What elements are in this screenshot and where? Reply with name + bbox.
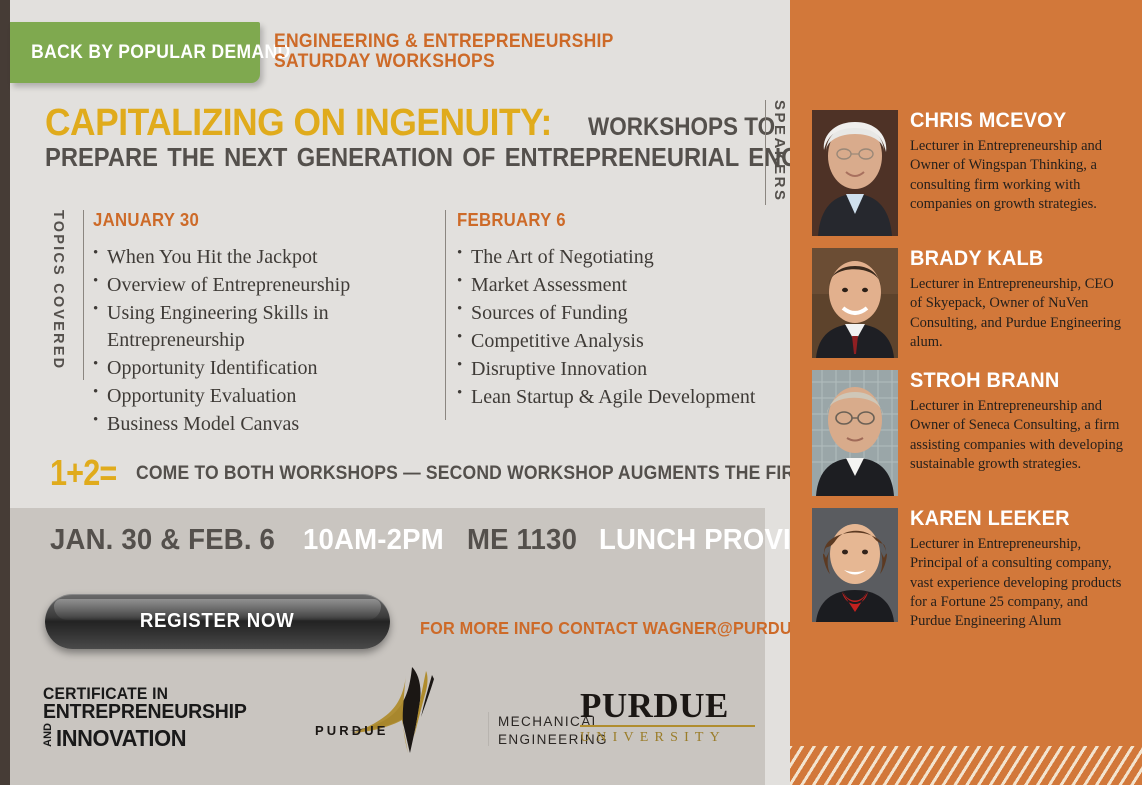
speaker-name: BRADY KALB	[910, 248, 1113, 269]
avatar	[812, 508, 898, 622]
speaker-bio: Lecturer in Entrepreneurship, CEO of Sky…	[910, 275, 1124, 352]
list-item: Market Assessment	[457, 272, 775, 299]
speaker-card-chris-mcevoy: CHRIS MCEVOY Lecturer in Entrepreneurshi…	[812, 110, 1124, 236]
speakers-list: CHRIS MCEVOY Lecturer in Entrepreneurshi…	[812, 110, 1124, 643]
list-item: Competitive Analysis	[457, 328, 775, 355]
back-by-popular-demand-badge: BACK BY POPULAR DEMAND	[10, 22, 260, 83]
speaker-body: KAREN LEEKER Lecturer in Entrepreneurshi…	[910, 508, 1124, 631]
list-item: When You Hit the Jackpot	[93, 244, 423, 271]
list-item: Business Model Canvas	[93, 411, 423, 438]
speaker-name: CHRIS MCEVOY	[910, 110, 1113, 131]
speaker-bio: Lecturer in Entrepreneurship and Owner o…	[910, 137, 1124, 214]
headline-line-2: PREPARE THE NEXT GENERATION OF ENTREPREN…	[45, 142, 724, 175]
avatar	[812, 248, 898, 358]
register-now-button[interactable]: REGISTER NOW	[45, 594, 390, 649]
avatar	[812, 110, 898, 236]
portrait-image	[812, 248, 898, 358]
list-item: Using Engineering Skills in Entrepreneur…	[93, 300, 423, 354]
purdue-gold-rule	[580, 725, 755, 727]
purdue-wordmark: PURDUE	[580, 688, 755, 723]
event-time: 10AM-2PM	[303, 524, 444, 557]
topic-text: Market Assessment	[471, 274, 627, 296]
contact-info[interactable]: FOR MORE INFO CONTACT WAGNER@PURDUE.EDU	[420, 618, 842, 639]
left-content-panel: BACK BY POPULAR DEMAND ENGINEERING & ENT…	[10, 0, 765, 785]
topic-list-february: The Art of Negotiating Market Assessment…	[457, 244, 775, 411]
topic-text: Business Model Canvas	[107, 413, 299, 435]
speaker-body: STROH BRANN Lecturer in Entrepreneurship…	[910, 370, 1124, 496]
cei-and-text: AND	[43, 723, 54, 747]
eyebrow-heading: ENGINEERING & ENTREPRENEURSHIP SATURDAY …	[274, 31, 651, 72]
cei-line-2: ENTREPRENEURSHIP	[43, 703, 219, 721]
speaker-name: STROH BRANN	[910, 370, 1113, 391]
speaker-bio: Lecturer in Entrepreneurship, Principal …	[910, 535, 1124, 631]
speaker-body: CHRIS MCEVOY Lecturer in Entrepreneurshi…	[910, 110, 1124, 236]
speaker-name: KAREN LEEKER	[910, 508, 1113, 529]
topic-text: Competitive Analysis	[471, 330, 644, 352]
cei-line-3-row: AND INNOVATION	[43, 723, 228, 747]
eyebrow-line-2: SATURDAY WORKSHOPS	[274, 51, 614, 71]
both-workshops-note: 1+2= COME TO BOTH WORKSHOPS — SECOND WOR…	[50, 452, 893, 494]
portrait-image	[812, 370, 898, 496]
topic-text: Sources of Funding	[471, 302, 628, 324]
event-details-bar: JAN. 30 & FEB. 6 10AM-2PM ME 1130 LUNCH …	[50, 524, 863, 557]
me-logo-purdue-word: PURDUE	[315, 723, 389, 738]
topic-text: Opportunity Evaluation	[107, 385, 296, 407]
event-room: ME 1130	[467, 524, 577, 557]
topics-label-text: TOPICS COVERED	[50, 210, 66, 370]
diagonal-stripe-decoration	[790, 746, 1142, 785]
equation-text: COME TO BOTH WORKSHOPS — SECOND WORKSHOP…	[136, 462, 817, 485]
speaker-body: BRADY KALB Lecturer in Entrepreneurship,…	[910, 248, 1124, 358]
topic-text: The Art of Negotiating	[471, 246, 654, 268]
speaker-card-karen-leeker: KAREN LEEKER Lecturer in Entrepreneurshi…	[812, 508, 1124, 631]
topics-column-january: JANUARY 30 When You Hit the Jackpot Over…	[93, 210, 423, 439]
purdue-university-subtext: UNIVERSITY	[580, 730, 755, 746]
topic-text: Lean Startup & Agile Development	[471, 386, 755, 408]
list-item: Lean Startup & Agile Development	[457, 384, 775, 411]
column-date-february: FEBRUARY 6	[457, 210, 753, 231]
purdue-motion-swoosh-icon	[348, 665, 468, 755]
badge-label: BACK BY POPULAR DEMAND	[10, 42, 290, 64]
list-item: Sources of Funding	[457, 300, 775, 327]
avatar	[812, 370, 898, 496]
topics-divider-rule	[83, 210, 84, 380]
event-dates: JAN. 30 & FEB. 6	[50, 524, 275, 557]
certificate-entrepreneurship-innovation-logo: CERTIFICATE IN ENTREPRENEURSHIP AND INNO…	[43, 687, 228, 747]
headline-trailing: WORKSHOPS TO	[588, 115, 775, 140]
list-item: The Art of Negotiating	[457, 244, 775, 271]
topic-text: Opportunity Identification	[107, 357, 318, 379]
purdue-university-logo: PURDUE UNIVERSITY	[580, 688, 755, 746]
left-spine-decoration	[0, 0, 10, 785]
page-title: CAPITALIZING ON INGENUITY:WORKSHOPS TO P…	[45, 104, 775, 175]
topic-text: When You Hit the Jackpot	[107, 246, 318, 268]
portrait-image	[812, 110, 898, 236]
topics-covered-label: TOPICS COVERED	[48, 210, 84, 380]
topic-text: Using Engineering Skills in Entrepreneur…	[107, 302, 329, 351]
purdue-mechanical-engineering-logo: PURDUE MECHANICAL ENGINEERING	[310, 665, 500, 760]
cei-line-3: INNOVATION	[56, 728, 186, 749]
eyebrow-line-1: ENGINEERING & ENTREPRENEURSHIP	[274, 31, 614, 51]
register-button-label: REGISTER NOW	[140, 610, 295, 633]
speakers-panel: CHRIS MCEVOY Lecturer in Entrepreneurshi…	[790, 0, 1142, 785]
topic-text: Overview of Entrepreneurship	[107, 274, 350, 296]
equation-symbol: 1+2=	[50, 452, 116, 494]
speakers-label-text: SPEAKERS	[771, 100, 788, 203]
headline-line-1: CAPITALIZING ON INGENUITY:WORKSHOPS TO	[45, 104, 775, 142]
topic-text: Disruptive Innovation	[471, 358, 647, 380]
topic-list-january: When You Hit the Jackpot Overview of Ent…	[93, 244, 423, 438]
topics-column-february: FEBRUARY 6 The Art of Negotiating Market…	[445, 210, 775, 412]
poster-root: BACK BY POPULAR DEMAND ENGINEERING & ENT…	[0, 0, 1142, 785]
logo-row: CERTIFICATE IN ENTREPRENEURSHIP AND INNO…	[10, 660, 765, 770]
headline-emphasis: CAPITALIZING ON INGENUITY:	[45, 104, 552, 142]
list-item: Overview of Entrepreneurship	[93, 272, 423, 299]
speakers-divider-rule	[765, 100, 766, 205]
portrait-image	[812, 508, 898, 622]
list-item: Opportunity Identification	[93, 355, 423, 382]
list-item: Disruptive Innovation	[457, 356, 775, 383]
speaker-bio: Lecturer in Entrepreneurship and Owner o…	[910, 397, 1124, 474]
list-item: Opportunity Evaluation	[93, 383, 423, 410]
speaker-card-brady-kalb: BRADY KALB Lecturer in Entrepreneurship,…	[812, 248, 1124, 358]
me-logo-divider	[488, 712, 489, 746]
column-date-january: JANUARY 30	[93, 210, 400, 231]
speaker-card-stroh-brann: STROH BRANN Lecturer in Entrepreneurship…	[812, 370, 1124, 496]
